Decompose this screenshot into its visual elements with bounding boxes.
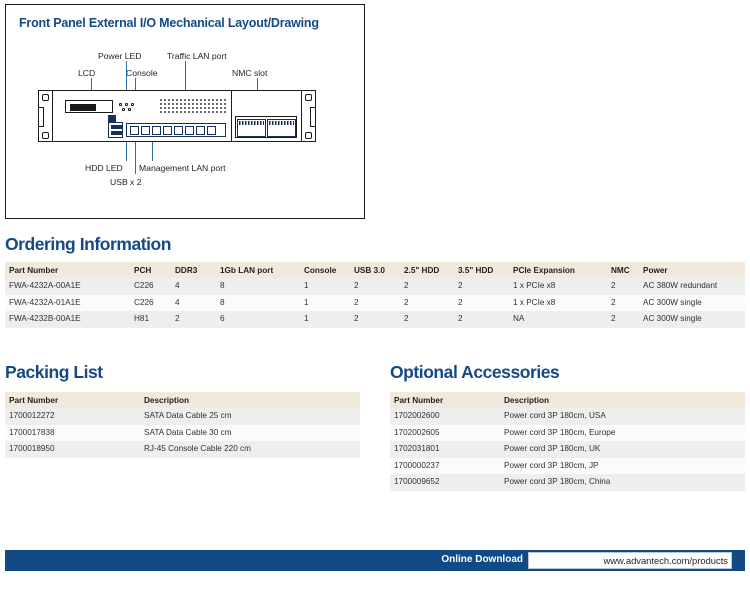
cell-nmc: 2 — [607, 295, 639, 312]
footer-url-link[interactable]: www.advantech.com/products — [603, 555, 728, 566]
table-row: 1700017838 SATA Data Cable 30 cm — [5, 425, 360, 442]
ordering-information-table: Part Number PCH DDR3 1Gb LAN port Consol… — [5, 262, 745, 328]
cell-ddr3: 4 — [171, 278, 216, 295]
cell-lan: 8 — [216, 278, 300, 295]
table-row: 1702002605 Power cord 3P 180cm, Europe — [390, 425, 745, 442]
cell-part-number: 1700017838 — [5, 425, 140, 442]
cell-hdd35: 2 — [454, 311, 509, 328]
chassis-front-view — [38, 90, 316, 142]
usb-port-2 — [111, 131, 122, 135]
cell-description: RJ-45 Console Cable 220 cm — [140, 441, 360, 458]
col-pch: PCH — [130, 262, 171, 278]
cell-console: 1 — [300, 311, 350, 328]
status-led-4 — [122, 108, 125, 111]
status-led-3 — [131, 103, 134, 106]
cell-description: Power cord 3P 180cm, JP — [500, 458, 745, 475]
ordering-table-header-row: Part Number PCH DDR3 1Gb LAN port Consol… — [5, 262, 745, 278]
col-description: Description — [500, 392, 745, 408]
cell-description: Power cord 3P 180cm, China — [500, 474, 745, 491]
cell-hdd35: 2 — [454, 295, 509, 312]
rack-notch-right — [310, 107, 315, 127]
packing-list-table: Part Number Description 1700012272 SATA … — [5, 392, 360, 458]
drawing-title: Front Panel External I/O Mechanical Layo… — [19, 16, 319, 30]
packing-list-title: Packing List — [5, 362, 103, 383]
cell-part-number: 1700018950 — [5, 441, 140, 458]
table-row: FWA-4232B-00A1E H81 2 6 1 2 2 2 NA 2 AC … — [5, 311, 745, 328]
cell-part-number: 1700012272 — [5, 408, 140, 425]
optional-accessories-table: Part Number Description 1702002600 Power… — [390, 392, 745, 491]
cell-part-number: FWA-4232A-01A1E — [5, 295, 130, 312]
table-row: FWA-4232A-01A1E C226 4 8 1 2 2 2 1 x PCI… — [5, 295, 745, 312]
table-row: 1700018950 RJ-45 Console Cable 220 cm — [5, 441, 360, 458]
cell-power: AC 300W single — [639, 311, 745, 328]
rack-hole-bottom-left — [42, 132, 49, 139]
col-part-number: Part Number — [5, 392, 140, 408]
col-1gb-lan-port: 1Gb LAN port — [216, 262, 300, 278]
col-25-hdd: 2.5" HDD — [400, 262, 454, 278]
rack-hole-bottom-right — [305, 132, 312, 139]
callout-lcd: LCD — [78, 68, 95, 78]
col-description: Description — [140, 392, 360, 408]
leader-line-management-lan — [152, 140, 153, 161]
lan-port-8 — [207, 126, 216, 135]
callout-hdd-led: HDD LED — [85, 163, 123, 173]
cell-lan: 6 — [216, 311, 300, 328]
rack-ear-left — [38, 90, 53, 142]
cell-pch: H81 — [130, 311, 171, 328]
cell-part-number: 1702002605 — [390, 425, 500, 442]
cell-part-number: 1702031801 — [390, 441, 500, 458]
table-row: 1700000237 Power cord 3P 180cm, JP — [390, 458, 745, 475]
usb-port-stack — [108, 122, 123, 138]
cell-description: SATA Data Cable 30 cm — [140, 425, 360, 442]
cell-part-number: FWA-4232A-00A1E — [5, 278, 130, 295]
callout-management-lan-port: Management LAN port — [139, 163, 225, 173]
cell-part-number: FWA-4232B-00A1E — [5, 311, 130, 328]
nmc-slot-2 — [267, 119, 296, 137]
cell-hdd25: 2 — [400, 278, 454, 295]
cell-pch: C226 — [130, 295, 171, 312]
cell-description: SATA Data Cable 25 cm — [140, 408, 360, 425]
cell-console: 1 — [300, 278, 350, 295]
cell-description: Power cord 3P 180cm, Europe — [500, 425, 745, 442]
lan-port-2 — [141, 126, 150, 135]
col-power: Power — [639, 262, 745, 278]
col-ddr3: DDR3 — [171, 262, 216, 278]
cell-part-number: 1700000237 — [390, 458, 500, 475]
status-led-5 — [128, 108, 131, 111]
cell-power: AC 300W single — [639, 295, 745, 312]
cell-part-number: 1700009652 — [390, 474, 500, 491]
packing-list-header-row: Part Number Description — [5, 392, 360, 408]
cell-usb30: 2 — [350, 278, 400, 295]
status-led-1 — [119, 103, 122, 106]
nmc-slot-1-contacts — [239, 121, 264, 125]
cell-part-number: 1702002600 — [390, 408, 500, 425]
rack-notch-left — [39, 107, 44, 127]
cell-pcie: 1 x PCIe x8 — [509, 278, 607, 295]
chassis-divider-line — [231, 91, 232, 141]
cell-hdd25: 2 — [400, 311, 454, 328]
cell-description: Power cord 3P 180cm, UK — [500, 441, 745, 458]
rack-ear-right — [301, 90, 316, 142]
cell-nmc: 2 — [607, 311, 639, 328]
cell-nmc: 2 — [607, 278, 639, 295]
cell-power: AC 380W redundant — [639, 278, 745, 295]
callout-power-led: Power LED — [98, 51, 141, 61]
cell-description: Power cord 3P 180cm, USA — [500, 408, 745, 425]
cell-console: 1 — [300, 295, 350, 312]
optional-accessories-header-row: Part Number Description — [390, 392, 745, 408]
optional-accessories-title: Optional Accessories — [390, 362, 559, 383]
table-row: 1702031801 Power cord 3P 180cm, UK — [390, 441, 745, 458]
nmc-slot-area — [235, 116, 297, 138]
table-row: FWA-4232A-00A1E C226 4 8 1 2 2 2 1 x PCI… — [5, 278, 745, 295]
col-usb-30: USB 3.0 — [350, 262, 400, 278]
lan-port-bank — [126, 123, 226, 137]
col-part-number: Part Number — [5, 262, 130, 278]
cell-pcie: NA — [509, 311, 607, 328]
cell-pch: C226 — [130, 278, 171, 295]
cell-hdd35: 2 — [454, 278, 509, 295]
col-console: Console — [300, 262, 350, 278]
ventilation-grille — [159, 98, 227, 115]
cell-usb30: 2 — [350, 311, 400, 328]
col-pcie-expansion: PCIe Expansion — [509, 262, 607, 278]
table-row: 1700009652 Power cord 3P 180cm, China — [390, 474, 745, 491]
col-nmc: NMC — [607, 262, 639, 278]
online-download-label: Online Download — [441, 554, 523, 565]
lcd-screen-area — [70, 104, 96, 111]
callout-nmc-slot: NMC slot — [232, 68, 267, 78]
lan-port-4 — [163, 126, 172, 135]
lan-port-5 — [174, 126, 183, 135]
table-row: 1700012272 SATA Data Cable 25 cm — [5, 408, 360, 425]
nmc-slot-2-contacts — [269, 121, 294, 125]
ordering-information-title: Ordering Information — [5, 234, 171, 255]
cell-lan: 8 — [216, 295, 300, 312]
callout-usb-x2: USB x 2 — [110, 177, 142, 187]
col-part-number: Part Number — [390, 392, 500, 408]
lan-port-3 — [152, 126, 161, 135]
rack-hole-top-left — [42, 94, 49, 101]
cell-ddr3: 4 — [171, 295, 216, 312]
usb-port-1 — [111, 125, 122, 129]
col-35-hdd: 3.5" HDD — [454, 262, 509, 278]
status-led-2 — [125, 103, 128, 106]
chassis-body — [52, 90, 302, 142]
callout-console: Console — [126, 68, 158, 78]
lan-port-1 — [130, 126, 139, 135]
lan-port-6 — [185, 126, 194, 135]
lan-port-7 — [196, 126, 205, 135]
cell-ddr3: 2 — [171, 311, 216, 328]
cell-hdd25: 2 — [400, 295, 454, 312]
cell-pcie: 1 x PCIe x8 — [509, 295, 607, 312]
lcd-display — [65, 100, 113, 113]
rack-hole-top-right — [305, 94, 312, 101]
nmc-slot-1 — [237, 119, 266, 137]
cell-usb30: 2 — [350, 295, 400, 312]
table-row: 1702002600 Power cord 3P 180cm, USA — [390, 408, 745, 425]
callout-traffic-lan-port: Traffic LAN port — [167, 51, 227, 61]
